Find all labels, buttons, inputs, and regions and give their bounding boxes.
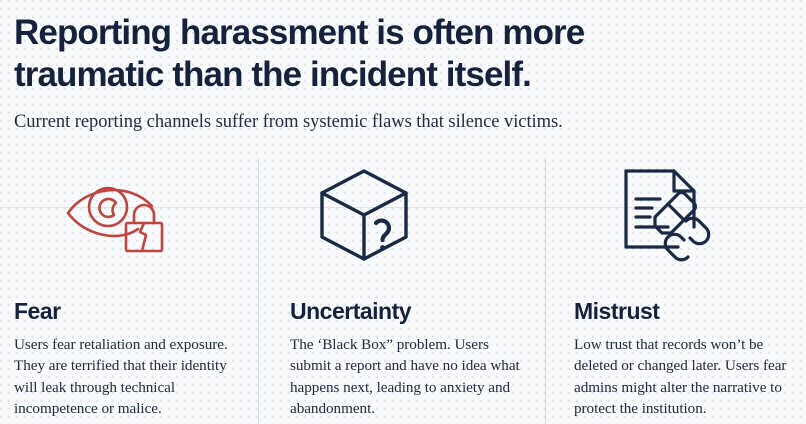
card-title-uncertainty: Uncertainty: [290, 298, 525, 325]
problem-card-uncertainty: Uncertainty The ‘Black Box” problem. Use…: [258, 152, 545, 424]
page-subtitle: Current reporting channels suffer from s…: [14, 110, 792, 134]
problem-card-mistrust: Mistrust Low trust that records won’t be…: [545, 152, 806, 424]
document-eraser-broken-chain-icon: [616, 165, 716, 270]
black-box-question-cube-icon: [316, 165, 412, 270]
card-title-mistrust: Mistrust: [574, 298, 796, 325]
card-title-fear: Fear: [14, 298, 240, 325]
page-title: Reporting harassment is often more traum…: [14, 12, 792, 96]
problem-columns: Fear Users fear retaliation and exposure…: [0, 152, 806, 424]
icon-container: [290, 162, 525, 272]
icon-container: [574, 162, 796, 272]
eye-broken-lock-icon: [62, 173, 174, 262]
card-body-mistrust: Low trust that records won’t be deleted …: [574, 334, 796, 419]
page-header: Reporting harassment is often more traum…: [14, 12, 792, 134]
problem-card-fear: Fear Users fear retaliation and exposure…: [0, 152, 258, 424]
card-body-uncertainty: The ‘Black Box” problem. Users submit a …: [290, 334, 525, 419]
card-body-fear: Users fear retaliation and exposure. The…: [14, 334, 240, 419]
icon-container: [14, 162, 240, 272]
